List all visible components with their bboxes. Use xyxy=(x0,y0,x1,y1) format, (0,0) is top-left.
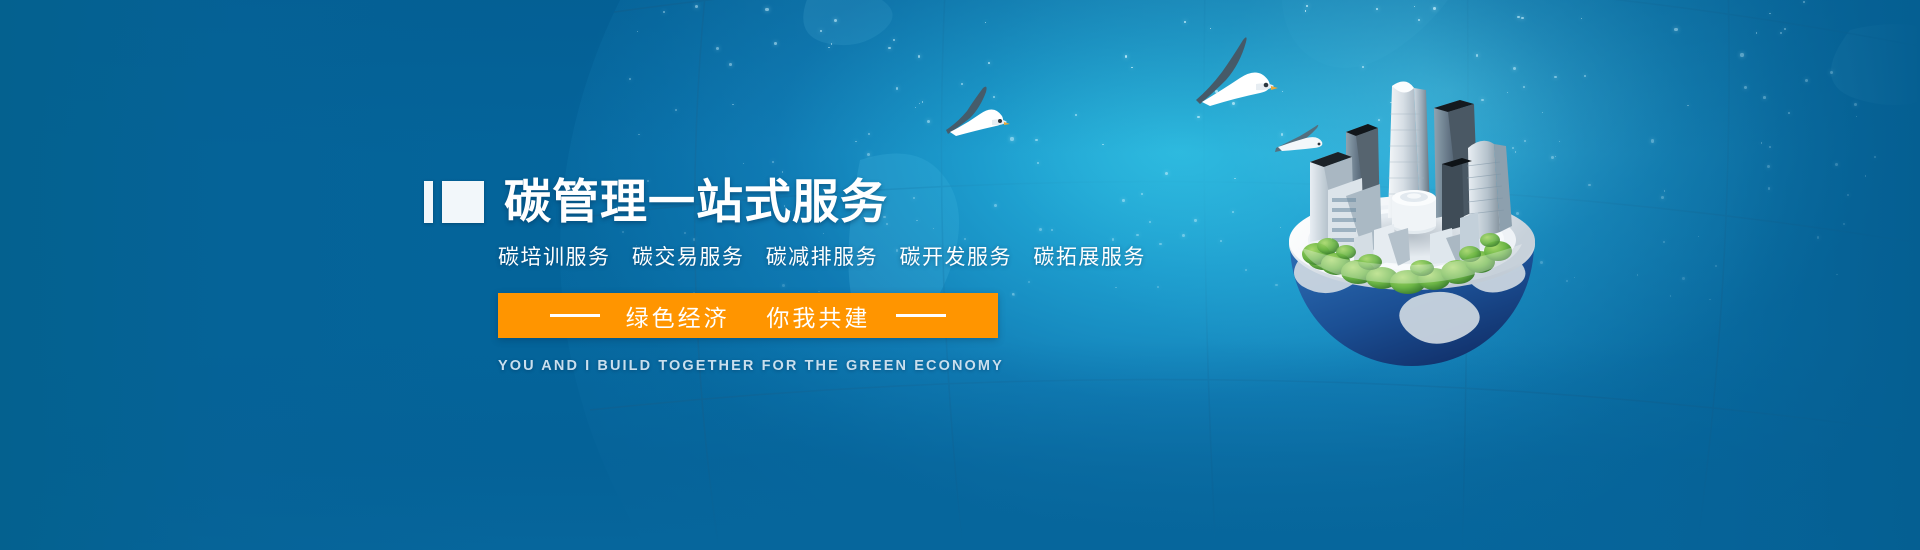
slogan-dash-left xyxy=(550,314,600,317)
slogan-dash-right xyxy=(896,314,946,317)
service-item-2: 碳减排服务 xyxy=(766,246,879,269)
service-item-4: 碳拓展服务 xyxy=(1033,246,1146,269)
slogan-banner: 绿色经济 你我共建 xyxy=(498,293,998,338)
slogan-text: 绿色经济 你我共建 xyxy=(626,299,871,333)
service-item-3: 碳开发服务 xyxy=(900,246,1013,269)
3d-city-on-globe-artwork xyxy=(1262,48,1562,378)
title-row: 碳管理一站式服务 xyxy=(424,178,1164,225)
service-item-1: 碳交易服务 xyxy=(632,246,745,269)
slogan-left-text: 绿色经济 xyxy=(626,305,730,331)
banner-copy: 碳管理一站式服务 碳培训服务 碳交易服务 碳减排服务 碳开发服务 碳拓展服务 绿… xyxy=(424,178,1164,374)
slogan-right-text: 你我共建 xyxy=(766,305,870,331)
seagull-left xyxy=(940,78,1012,140)
hero-banner: 碳管理一站式服务 碳培训服务 碳交易服务 碳减排服务 碳开发服务 碳拓展服务 绿… xyxy=(0,0,1920,550)
logo-bar-shape xyxy=(424,181,433,223)
logo-square-shape xyxy=(442,181,484,223)
english-tagline: YOU AND I BUILD TOGETHER FOR THE GREEN E… xyxy=(498,358,998,374)
bar-square-logo-icon xyxy=(424,181,484,223)
service-item-0: 碳培训服务 xyxy=(498,246,611,269)
service-list: 碳培训服务 碳交易服务 碳减排服务 碳开发服务 碳拓展服务 xyxy=(498,241,1164,271)
page-title: 碳管理一站式服务 xyxy=(504,178,888,225)
